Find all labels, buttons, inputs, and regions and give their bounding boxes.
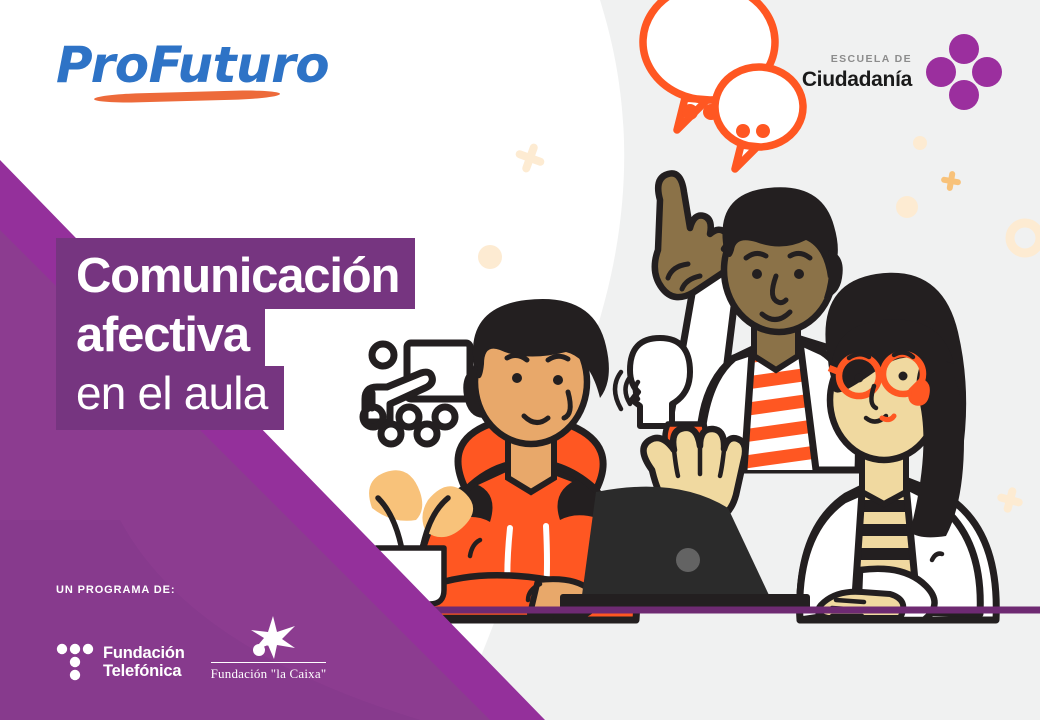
caixa-star-icon bbox=[237, 614, 299, 660]
fundacion-telefonica-logo[interactable]: Fundación Telefónica bbox=[56, 642, 185, 682]
escuela-line-2: Ciudadanía bbox=[802, 69, 912, 90]
title-line-2: afectiva bbox=[56, 307, 265, 368]
title-line-1: Comunicación bbox=[56, 238, 415, 309]
escuela-ciudadania-text: ESCUELA DE Ciudadanía bbox=[802, 54, 912, 90]
footer-label: UN PROGRAMA DE: bbox=[56, 584, 326, 596]
profuturo-logo[interactable]: ProFuturo bbox=[56, 36, 286, 108]
footer-logo-row: Fundación Telefónica Fundación "la Caixa… bbox=[56, 612, 326, 682]
title-line-3: en el aula bbox=[56, 366, 284, 430]
fundacion-la-caixa-name: Fundación "la Caixa" bbox=[211, 662, 327, 682]
profuturo-wordmark: ProFuturo bbox=[56, 36, 286, 94]
escuela-ciudadania-logo[interactable]: ESCUELA DE Ciudadanía bbox=[802, 34, 1002, 110]
program-footer: UN PROGRAMA DE: Fundación Telefónica bbox=[56, 584, 326, 682]
slide-title: Comunicación afectiva en el aula bbox=[56, 238, 415, 430]
four-circle-flower-icon bbox=[926, 34, 1002, 110]
fundacion-la-caixa-logo[interactable]: Fundación "la Caixa" bbox=[211, 612, 327, 682]
presentation-slide: ProFuturo ESCUELA DE Ciudadanía Comunica… bbox=[0, 0, 1040, 720]
escuela-line-1: ESCUELA DE bbox=[802, 54, 912, 65]
telefonica-dots-icon bbox=[56, 642, 94, 682]
fundacion-telefonica-name: Fundación Telefónica bbox=[103, 644, 185, 680]
